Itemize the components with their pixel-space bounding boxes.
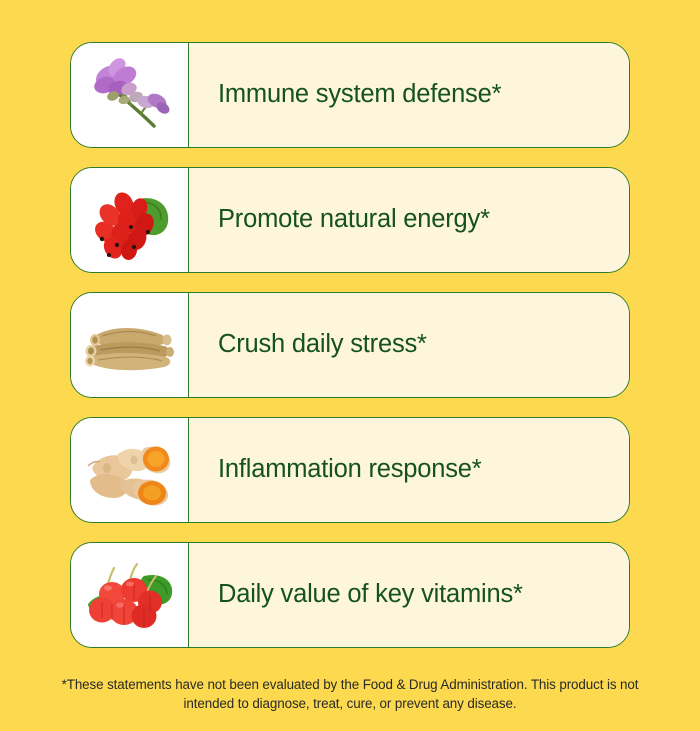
benefits-panel: Immune system defense* [0,0,700,731]
benefit-card-crush-daily-stress[interactable]: Crush daily stress* [70,292,630,398]
benefit-card-body: Promote natural energy* [189,168,629,272]
benefit-label: Crush daily stress* [218,330,427,359]
benefit-card-inflammation-response[interactable]: Inflammation response* [70,417,630,523]
benefit-card-media [71,168,189,272]
benefit-card-body: Daily value of key vitamins* [189,543,629,647]
benefit-card-body: Crush daily stress* [189,293,629,397]
schisandra-berries-image [84,177,176,263]
benefit-card-body: Immune system defense* [189,43,629,147]
fda-disclaimer-text: *These statements have not been evaluate… [62,677,639,711]
benefit-card-body: Inflammation response* [189,418,629,522]
benefit-label: Promote natural energy* [218,205,490,234]
benefit-label: Immune system defense* [218,80,501,109]
benefit-card-media [71,543,189,647]
benefit-card-immune-system-defense[interactable]: Immune system defense* [70,42,630,148]
astragalus-flower-image [84,52,176,138]
benefit-card-media [71,43,189,147]
benefit-card-daily-value-of-key-vitamins[interactable]: Daily value of key vitamins* [70,542,630,648]
fda-disclaimer: *These statements have not been evaluate… [0,675,700,714]
benefit-label: Daily value of key vitamins* [218,580,523,609]
licorice-root-image [84,310,176,380]
acerola-cherries-image [84,554,176,636]
benefit-card-media [71,418,189,522]
turmeric-root-image [84,432,176,508]
benefit-label: Inflammation response* [218,455,482,484]
benefit-card-promote-natural-energy[interactable]: Promote natural energy* [70,167,630,273]
benefit-card-list: Immune system defense* [0,0,700,648]
benefit-card-media [71,293,189,397]
